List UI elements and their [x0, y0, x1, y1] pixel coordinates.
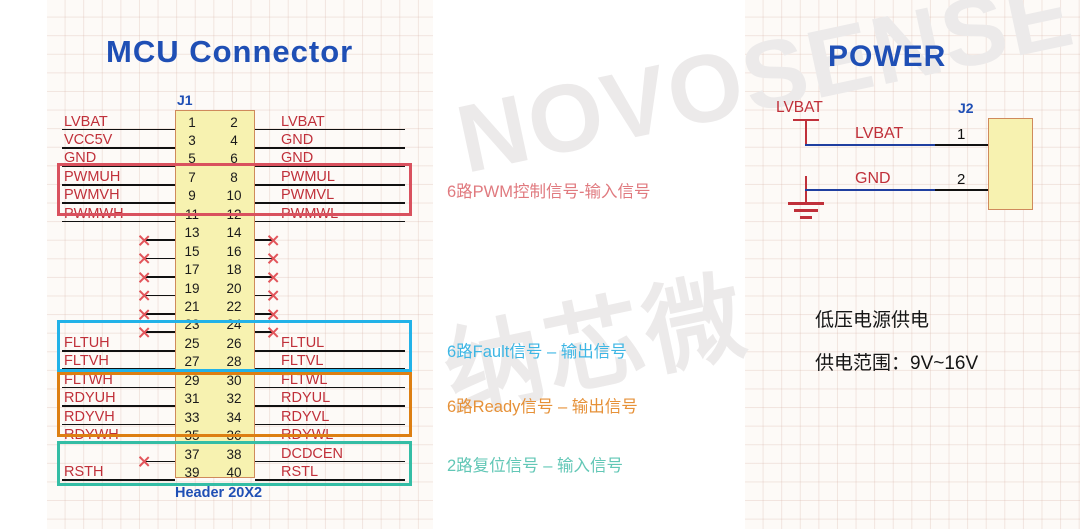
j1-net-wire [255, 147, 405, 149]
annotation-reset: 2路复位信号 – 输入信号 [447, 452, 623, 476]
no-connect-icon [266, 271, 279, 284]
highlight-box-reset [57, 441, 412, 486]
annotation-ready: 6路Ready信号 – 输出信号 [447, 393, 638, 417]
j2-pin-number: 2 [957, 171, 965, 188]
power-note-2: 供电范围：9V~16V [815, 348, 978, 375]
no-connect-icon [137, 308, 150, 321]
j1-pin-number: 15 [179, 244, 205, 259]
j1-pin-number: 2 [221, 115, 247, 130]
no-connect-icon [266, 234, 279, 247]
j1-net-label-right: GND [281, 132, 313, 148]
j1-net-wire [255, 129, 405, 131]
j1-pin-number: 21 [179, 299, 205, 314]
annotation-fault: 6路Fault信号 – 输出信号 [447, 338, 627, 362]
j1-footprint-label: Header 20X2 [175, 485, 262, 501]
j2-refdes: J2 [958, 100, 974, 116]
power-title: POWER [828, 40, 946, 74]
grid-paper-right [745, 0, 1080, 529]
power-net-wire [805, 189, 935, 191]
j1-pin-number: 3 [179, 133, 205, 148]
j1-pin-number: 1 [179, 115, 205, 130]
ground-icon-bar2 [794, 209, 818, 212]
power-net-wire [805, 144, 935, 146]
no-connect-icon [266, 289, 279, 302]
highlight-box-ready [57, 372, 412, 437]
j1-pin-number: 4 [221, 133, 247, 148]
j1-refdes: J1 [177, 92, 193, 108]
power-note-1: 低压电源供电 [815, 305, 929, 332]
mcu-connector-title: MCU Connector [106, 34, 353, 70]
j1-net-label-left: LVBAT [64, 114, 108, 130]
j1-pin-number: 14 [221, 225, 247, 240]
no-connect-icon [266, 308, 279, 321]
schematic-canvas: NOVOSENSE 纳芯微 MCU Connector POWER J1 12L… [0, 0, 1080, 529]
highlight-box-pwm [57, 163, 412, 216]
no-connect-icon [137, 271, 150, 284]
no-connect-icon [137, 234, 150, 247]
j1-pin-number: 16 [221, 244, 247, 259]
j1-net-label-left: VCC5V [64, 132, 112, 148]
power-pin-wire [935, 144, 988, 146]
ground-icon [788, 202, 824, 205]
power-net-label: LVBAT [855, 125, 903, 143]
annotation-pwm: 6路PWM控制信号-输入信号 [447, 178, 651, 202]
no-connect-icon [137, 289, 150, 302]
j1-pin-number: 13 [179, 225, 205, 240]
j1-pin-number: 17 [179, 262, 205, 277]
highlight-box-fault [57, 320, 412, 372]
power-supply-stem [805, 119, 807, 144]
lvbat-supply-label: LVBAT [776, 99, 823, 117]
no-connect-icon [137, 252, 150, 265]
no-connect-icon [266, 252, 279, 265]
power-pin-wire [935, 189, 988, 191]
ground-icon-bar3 [800, 216, 812, 219]
j1-pin-number: 18 [221, 262, 247, 277]
power-net-label: GND [855, 170, 891, 188]
j2-connector-body[interactable] [988, 118, 1033, 210]
j1-net-label-right: LVBAT [281, 114, 325, 130]
j1-pin-number: 20 [221, 281, 247, 296]
j1-pin-number: 19 [179, 281, 205, 296]
j1-pin-number: 22 [221, 299, 247, 314]
j2-pin-number: 1 [957, 126, 965, 143]
